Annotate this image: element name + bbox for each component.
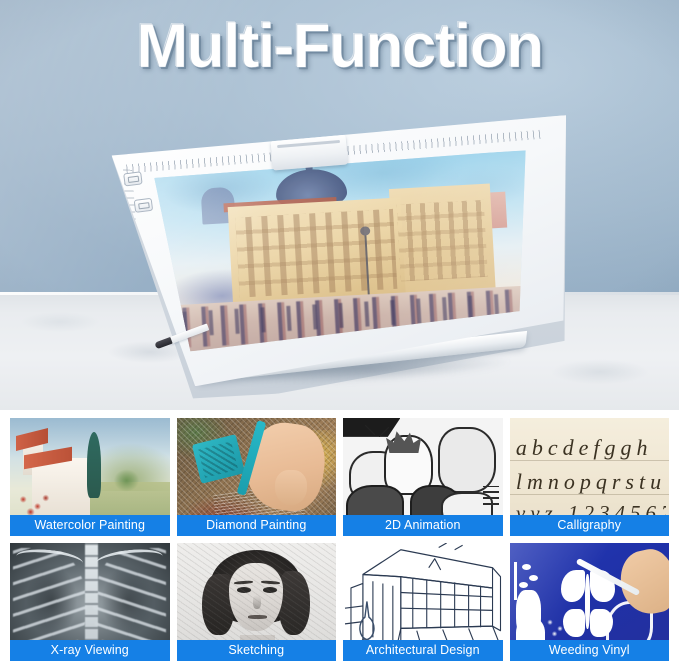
hero-section: Multi-Function bbox=[0, 0, 679, 410]
use-case-card-sketching[interactable]: Sketching bbox=[177, 543, 337, 661]
paper-clip[interactable] bbox=[270, 134, 347, 170]
use-case-card-calligraphy[interactable]: abcdefggh lmnopqrstu yyz 1234567 Calligr… bbox=[510, 418, 670, 536]
use-case-card-watercolor-painting[interactable]: Watercolor Painting bbox=[10, 418, 170, 536]
caption-calligraphy: Calligraphy bbox=[510, 515, 670, 536]
use-case-card-diamond-painting[interactable]: Diamond Painting bbox=[177, 418, 337, 536]
stylus-tip bbox=[154, 337, 172, 349]
calligraphy-line-1: abcdefggh bbox=[516, 435, 666, 461]
calligraphy-line-2: lmnopqrstu bbox=[516, 469, 666, 495]
page-title: Multi-Function bbox=[0, 14, 679, 79]
thumb-figure-right bbox=[438, 427, 496, 492]
ruler-scale-side-icon bbox=[123, 170, 143, 325]
use-case-card-architectural-design[interactable]: Architectural Design bbox=[343, 543, 503, 661]
lit-panel-artwork bbox=[150, 150, 536, 353]
use-case-card-x-ray-viewing[interactable]: X-ray Viewing bbox=[10, 543, 170, 661]
thumb-speed-lines bbox=[483, 486, 499, 505]
caption-2d-animation: 2D Animation bbox=[343, 515, 503, 536]
thumb-guide-line-1 bbox=[510, 460, 670, 461]
thumb-bush bbox=[109, 465, 144, 496]
thumb-cypress-tree bbox=[87, 432, 101, 498]
use-case-card-2d-animation[interactable]: 2D Animation bbox=[343, 418, 503, 536]
use-case-card-weeding-vinyl[interactable]: Weeding Vinyl bbox=[510, 543, 670, 661]
use-case-grid: Watercolor Painting Diamond Painting bbox=[0, 410, 679, 669]
power-button[interactable] bbox=[134, 198, 153, 213]
led-light-pad bbox=[97, 115, 581, 410]
caption-x-ray-viewing: X-ray Viewing bbox=[10, 640, 170, 661]
caption-weeding-vinyl: Weeding Vinyl bbox=[510, 640, 670, 661]
panel-glass-reflection bbox=[150, 150, 536, 353]
caption-sketching: Sketching bbox=[177, 640, 337, 661]
caption-watercolor-painting: Watercolor Painting bbox=[10, 515, 170, 536]
caption-diamond-painting: Diamond Painting bbox=[177, 515, 337, 536]
brightness-button[interactable] bbox=[124, 171, 143, 186]
thumb-finger bbox=[275, 470, 307, 505]
product-feature-image: Multi-Function bbox=[0, 0, 679, 669]
caption-architectural-design: Architectural Design bbox=[343, 640, 503, 661]
